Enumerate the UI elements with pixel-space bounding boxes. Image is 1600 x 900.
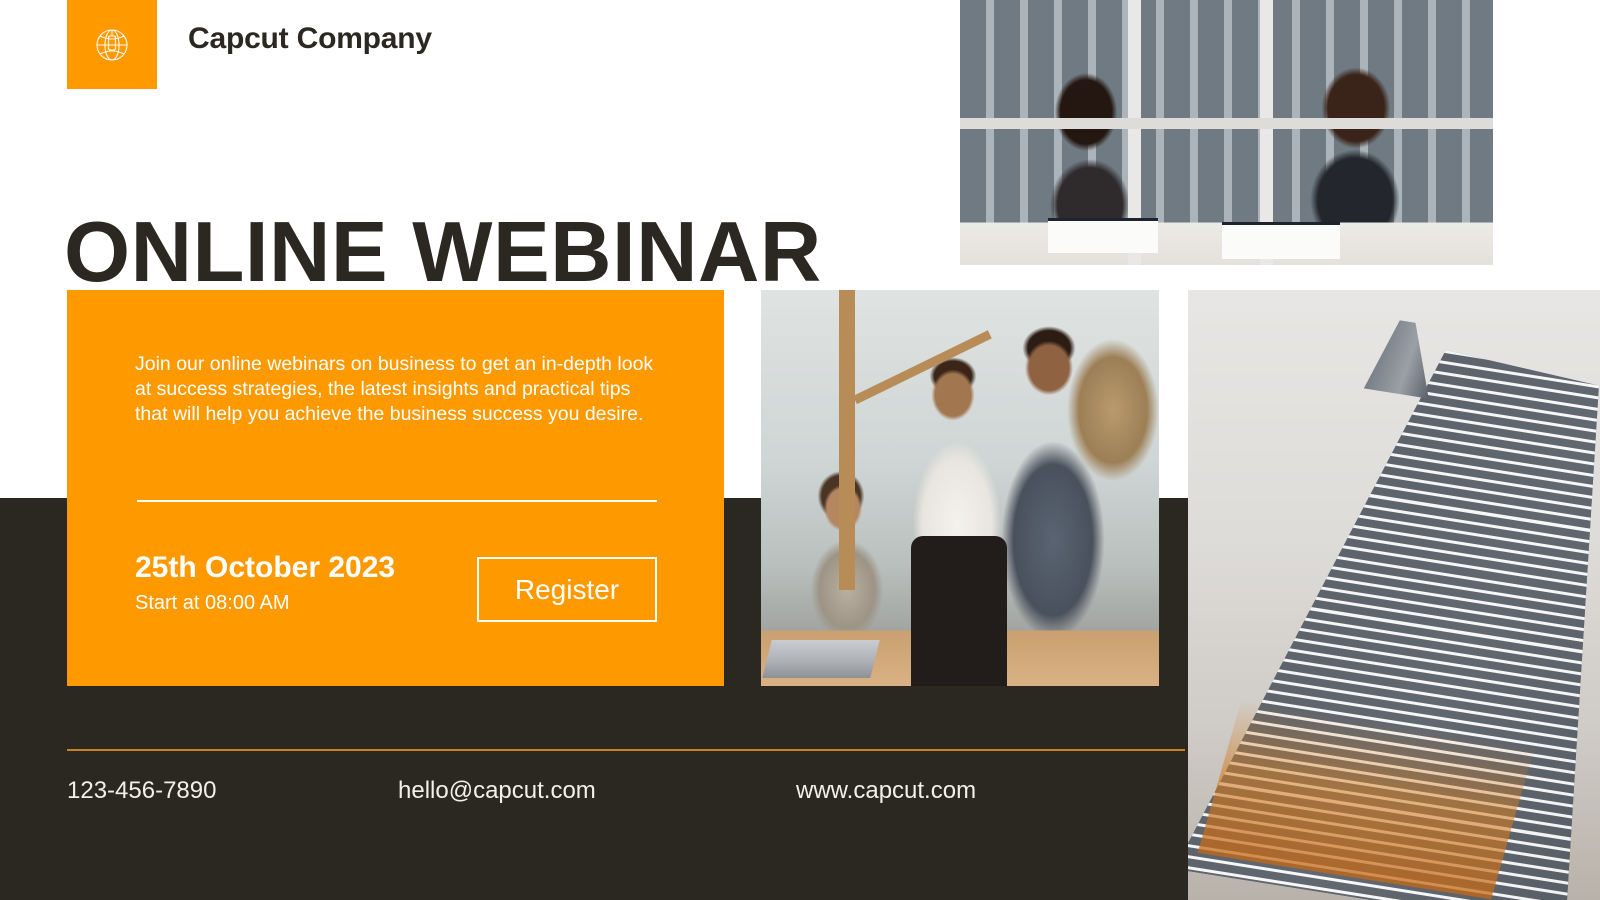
page-title: ONLINE WEBINAR: [64, 205, 822, 300]
footer-divider: [67, 749, 1185, 751]
event-time: Start at 08:00 AM: [135, 592, 290, 615]
brand-name: Capcut Company: [188, 22, 432, 56]
photo-team: [761, 290, 1159, 686]
contact-phone[interactable]: 123-456-7890: [67, 777, 216, 805]
panel-divider: [137, 500, 657, 502]
info-description: Join our online webinars on business to …: [135, 352, 665, 427]
event-date: 25th October 2023: [135, 551, 395, 585]
contact-email[interactable]: hello@capcut.com: [398, 777, 596, 805]
photo-meeting: [960, 0, 1493, 265]
photo-skyscraper: [1188, 290, 1600, 900]
webinar-poster: Capcut Company ONLINE WEBINAR Join our o…: [0, 0, 1600, 900]
footer-contacts: 123-456-7890 hello@capcut.com www.capcut…: [67, 777, 1185, 813]
register-button[interactable]: Register: [477, 557, 657, 622]
contact-website[interactable]: www.capcut.com: [796, 777, 976, 805]
company-logo: [67, 0, 157, 89]
globe-icon: [89, 22, 135, 68]
info-panel: Join our online webinars on business to …: [67, 290, 724, 686]
